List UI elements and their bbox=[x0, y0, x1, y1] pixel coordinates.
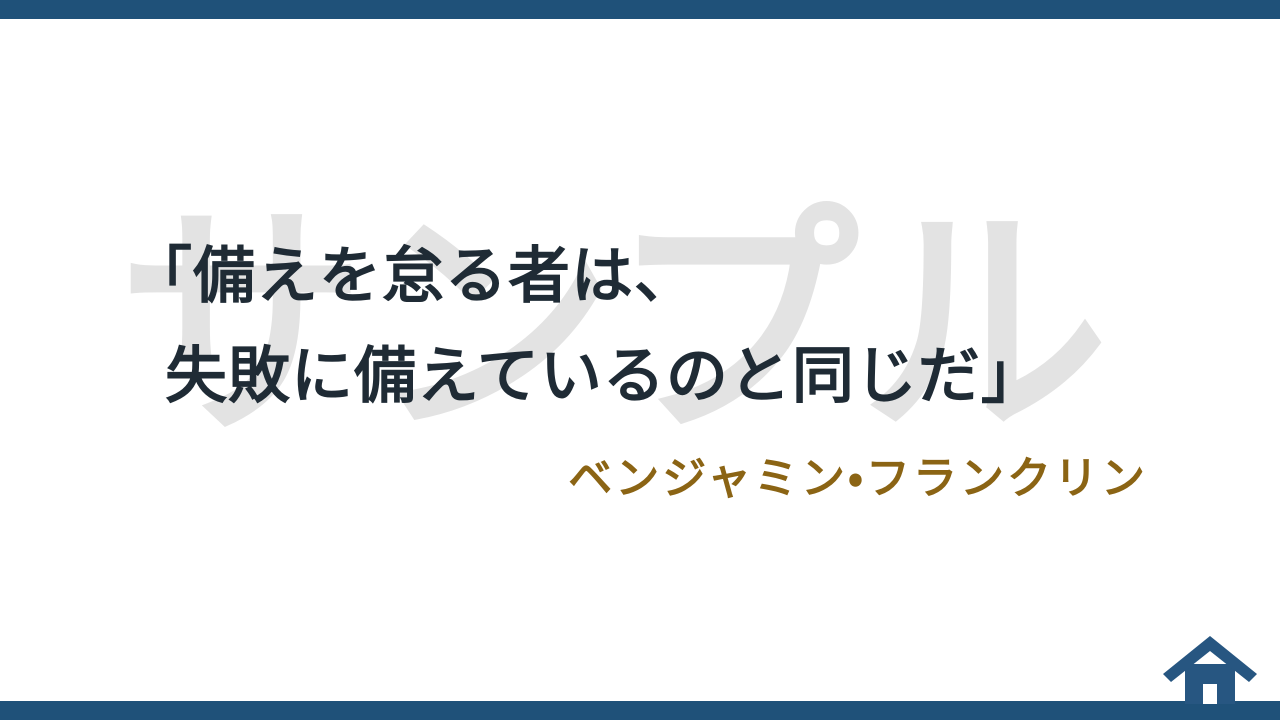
slide-canvas: サンプル 「備えを怠る者は、 失敗に備えているのと同じだ」 ベンジャミン・フラン… bbox=[0, 0, 1280, 720]
quote-line-1: 「備えを怠る者は、 bbox=[0, 226, 1280, 326]
top-accent-band bbox=[0, 0, 1280, 19]
bottom-accent-band bbox=[0, 701, 1280, 720]
home-icon bbox=[1160, 634, 1260, 704]
quote-block: 「備えを怠る者は、 失敗に備えているのと同じだ」 bbox=[0, 226, 1280, 426]
quote-attribution: ベンジャミン・フランクリン bbox=[0, 450, 1148, 508]
quote-line-2: 失敗に備えているのと同じだ」 bbox=[0, 326, 1280, 426]
home-icon-glyph bbox=[1160, 634, 1260, 704]
